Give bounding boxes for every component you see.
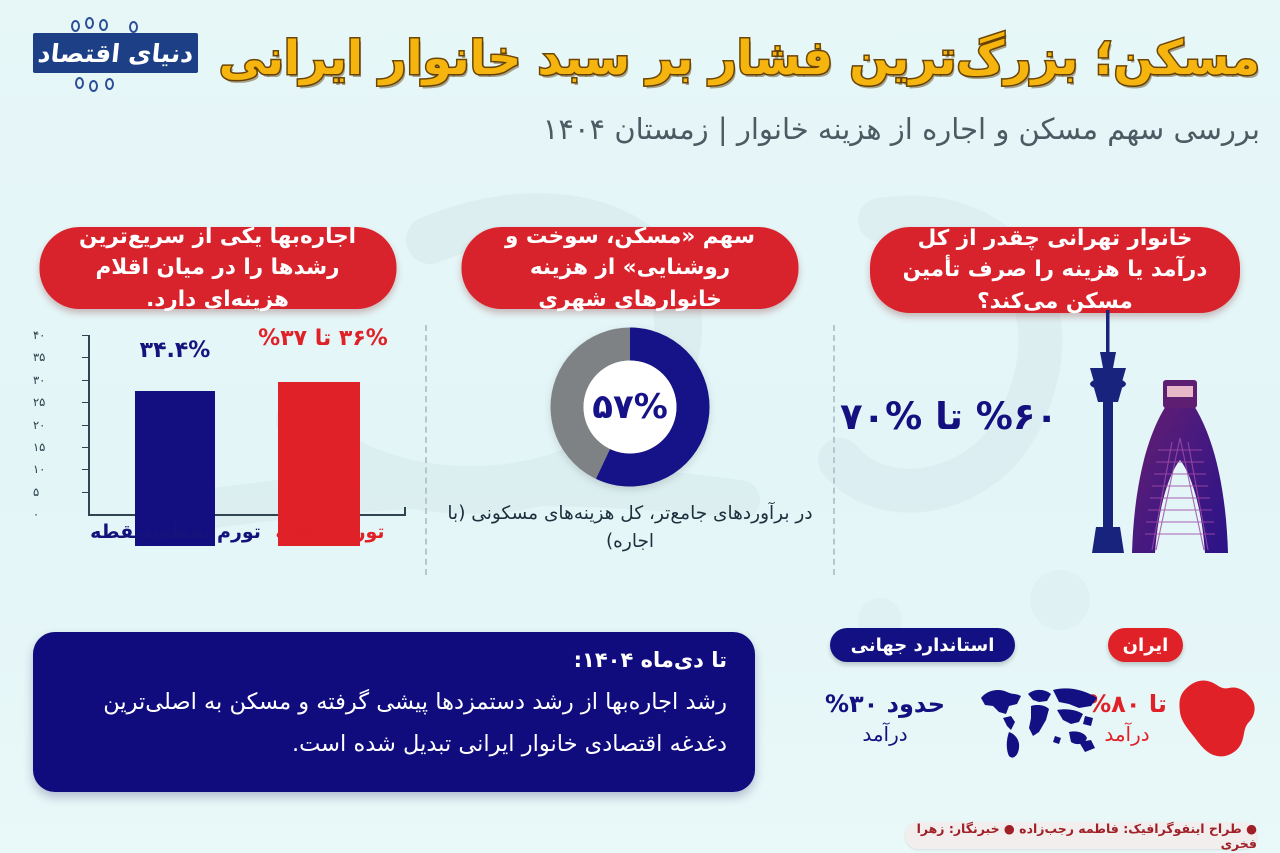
comparison-section: استاندارد جهانی ایران حدود ۳۰% درآمد تا … <box>790 628 1260 800</box>
y-tick-label: ۲۰ <box>33 418 63 432</box>
page-subtitle: بررسی سهم مسکن و اجاره از هزینه خانوار |… <box>200 112 1260 146</box>
page-title: مسکن؛ بزرگ‌ترین فشار بر سبد خانوار ایران… <box>210 18 1260 100</box>
tehran-landmarks-illustration <box>1060 310 1260 570</box>
inflation-bar-chart: ۴۰ ۳۵ ۳۰ ۲۵ ۲۰ ۱۵ ۱۰ ۵ ۰ ۳۴.۴% <box>38 335 408 547</box>
y-tick-label: ۳۵ <box>33 350 63 364</box>
y-tick-label: ۵ <box>33 485 63 499</box>
panel-housing-share: سهم «مسکن، سوخت و روشنایی» از هزینه خانو… <box>430 215 830 595</box>
panels-row: خانوار تهرانی چقدر از کل درآمد یا هزینه … <box>0 215 1280 595</box>
panel-rent-growth: اجاره‌بها یکی از سریع‌ترین رشدها را در م… <box>20 215 415 595</box>
panel-housing-headline: سهم «مسکن، سوخت و روشنایی» از هزینه خانو… <box>462 227 799 309</box>
panel-tehran-headline: خانوار تهرانی چقدر از کل درآمد یا هزینه … <box>870 227 1240 313</box>
panel-divider-2 <box>833 325 835 575</box>
y-tick-label: ۴۰ <box>33 328 63 342</box>
footer-credits: ● طراح اینفوگرافیک: فاطمه رجب‌زاده ● خبر… <box>905 822 1257 849</box>
donut-center-value: ۵۷% <box>550 327 710 487</box>
world-map-icon <box>973 680 1105 762</box>
world-standard-value: حدود ۳۰% <box>790 690 980 718</box>
infographic-page: دنیای اقتصاد مسکن؛ بزرگ‌ترین فشار بر سبد… <box>0 0 1280 853</box>
panel-tehran-share: خانوار تهرانی چقدر از کل درآمد یا هزینه … <box>845 215 1265 595</box>
bar-category-label: تورم سالانه <box>260 521 400 543</box>
panel-divider-1 <box>425 325 427 575</box>
azadi-tower-icon <box>1132 380 1228 553</box>
milad-tower-icon <box>1090 310 1126 553</box>
chart-x-axis-cap-left <box>88 507 90 515</box>
panel-rent-headline: اجاره‌بها یکی از سریع‌ترین رشدها را در م… <box>39 227 396 309</box>
world-standard-sublabel: درآمد <box>790 722 980 746</box>
brand-logo-text: دنیای اقتصاد <box>36 39 194 68</box>
chart-x-axis-cap-right <box>404 507 406 515</box>
y-tick-label: ۱۰ <box>33 462 63 476</box>
panel-housing-caption: در برآوردهای جامع‌تر، کل هزینه‌های مسکون… <box>436 500 824 556</box>
y-tick-label: ۳۰ <box>33 373 63 387</box>
iran-badge: ایران <box>1108 628 1183 662</box>
summary-text: رشد اجاره‌بها از رشد دستمزدها پیشی گرفته… <box>61 681 727 766</box>
world-standard-badge: استاندارد جهانی <box>830 628 1015 662</box>
bar-category-label: تورم نقطه‌به‌نقطه <box>78 521 273 543</box>
donut-chart: ۵۷% <box>550 327 710 487</box>
brand-logo[interactable]: دنیای اقتصاد <box>33 33 198 73</box>
bar-value-label: ۳۶% تا ۳۷% <box>248 326 398 351</box>
summary-callout-box: تا دی‌ماه ۱۴۰۴: رشد اجاره‌بها از رشد دست… <box>33 632 755 792</box>
tehran-range-value: %۶۰ تا %۷۰ <box>853 395 1058 438</box>
bar-value-label: ۳۴.۴% <box>115 338 235 363</box>
summary-heading: تا دی‌ماه ۱۴۰۴: <box>61 648 727 672</box>
y-tick-label: ۱۵ <box>33 440 63 454</box>
iran-map-icon <box>1177 676 1259 762</box>
y-tick-label: ۰ <box>33 507 63 521</box>
page-header: دنیای اقتصاد مسکن؛ بزرگ‌ترین فشار بر سبد… <box>0 0 1280 190</box>
y-tick-label: ۲۵ <box>33 395 63 409</box>
